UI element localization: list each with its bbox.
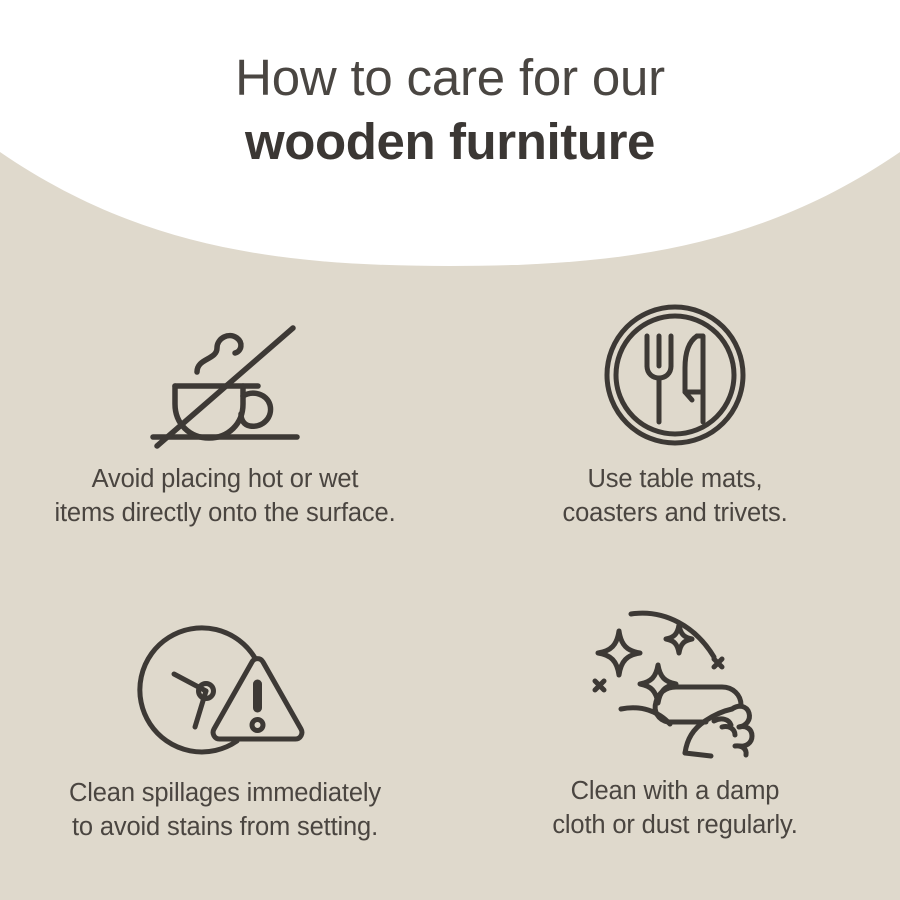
page-title: How to care for our wooden furniture <box>0 48 900 172</box>
care-tip-item: Use table mats, coasters and trivets. <box>450 286 900 586</box>
care-tip-caption-line-1: Clean with a damp <box>552 775 797 809</box>
care-tip-caption-line-2: coasters and trivets. <box>562 497 787 531</box>
care-tip-caption: Clean with a damp cloth or dust regularl… <box>552 775 797 842</box>
poster-header: How to care for our wooden furniture <box>0 0 900 280</box>
care-tip-caption-line-2: items directly onto the surface. <box>54 497 395 531</box>
clock-warning-icon <box>135 602 315 767</box>
care-tip-caption: Use table mats, coasters and trivets. <box>562 463 787 530</box>
care-tip-caption-line-2: to avoid stains from setting. <box>69 811 381 845</box>
hand-wiping-cloth-sparkle-icon <box>585 596 765 761</box>
care-tip-caption: Clean spillages immediately to avoid sta… <box>69 777 381 844</box>
care-tip-caption-line-2: cloth or dust regularly. <box>552 809 797 843</box>
care-tip-item: Clean spillages immediately to avoid sta… <box>0 586 450 886</box>
title-line-2: wooden furniture <box>0 112 900 172</box>
plate-fork-knife-icon <box>585 292 765 457</box>
care-tip-caption-line-1: Use table mats, <box>562 463 787 497</box>
care-tips-grid: Avoid placing hot or wet items directly … <box>0 286 900 886</box>
care-tip-caption: Avoid placing hot or wet items directly … <box>54 463 395 530</box>
care-tip-caption-line-1: Clean spillages immediately <box>69 777 381 811</box>
care-tip-item: Clean with a damp cloth or dust regularl… <box>450 586 900 886</box>
care-tip-item: Avoid placing hot or wet items directly … <box>0 286 450 586</box>
care-tip-caption-line-1: Avoid placing hot or wet <box>54 463 395 497</box>
no-hot-or-wet-cup-icon <box>135 292 315 457</box>
care-instructions-poster: How to care for our wooden furniture <box>0 0 900 900</box>
title-line-1: How to care for our <box>0 48 900 108</box>
